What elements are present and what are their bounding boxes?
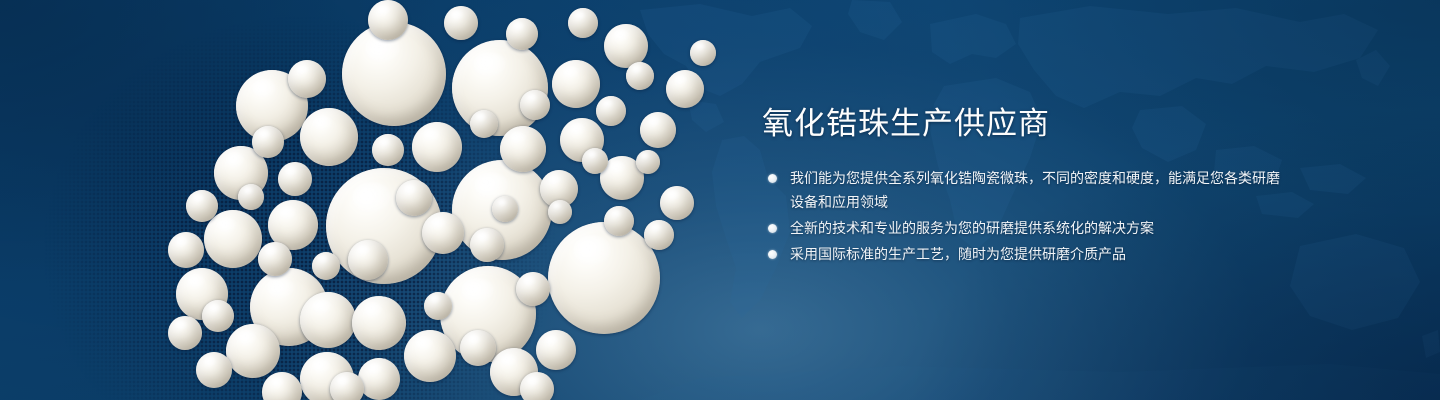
promo-banner: 氧化锆珠生产供应商 我们能为您提供全系列氧化锆陶瓷微珠，不同的密度和硬度，能满足… (0, 0, 1440, 400)
page-title: 氧化锆珠生产供应商 (762, 104, 1280, 144)
bullet-dot-icon (768, 250, 777, 259)
list-item: 全新的技术和专业的服务为您的研磨提供系统化的解决方案 (760, 216, 1280, 240)
bullet-dot-icon (768, 224, 777, 233)
zirconia-beads-image (0, 0, 760, 400)
bullet-dot-icon (768, 174, 777, 183)
list-item: 我们能为您提供全系列氧化锆陶瓷微珠，不同的密度和硬度，能满足您各类研磨设备和应用… (760, 166, 1280, 214)
list-item: 采用国际标准的生产工艺，随时为您提供研磨介质产品 (760, 242, 1280, 266)
list-item-text: 采用国际标准的生产工艺，随时为您提供研磨介质产品 (790, 246, 1126, 262)
feature-list: 我们能为您提供全系列氧化锆陶瓷微珠，不同的密度和硬度，能满足您各类研磨设备和应用… (760, 166, 1280, 266)
banner-copy: 氧化锆珠生产供应商 我们能为您提供全系列氧化锆陶瓷微珠，不同的密度和硬度，能满足… (760, 104, 1280, 268)
list-item-text: 全新的技术和专业的服务为您的研磨提供系统化的解决方案 (790, 220, 1154, 236)
list-item-text: 我们能为您提供全系列氧化锆陶瓷微珠，不同的密度和硬度，能满足您各类研磨设备和应用… (790, 170, 1280, 210)
